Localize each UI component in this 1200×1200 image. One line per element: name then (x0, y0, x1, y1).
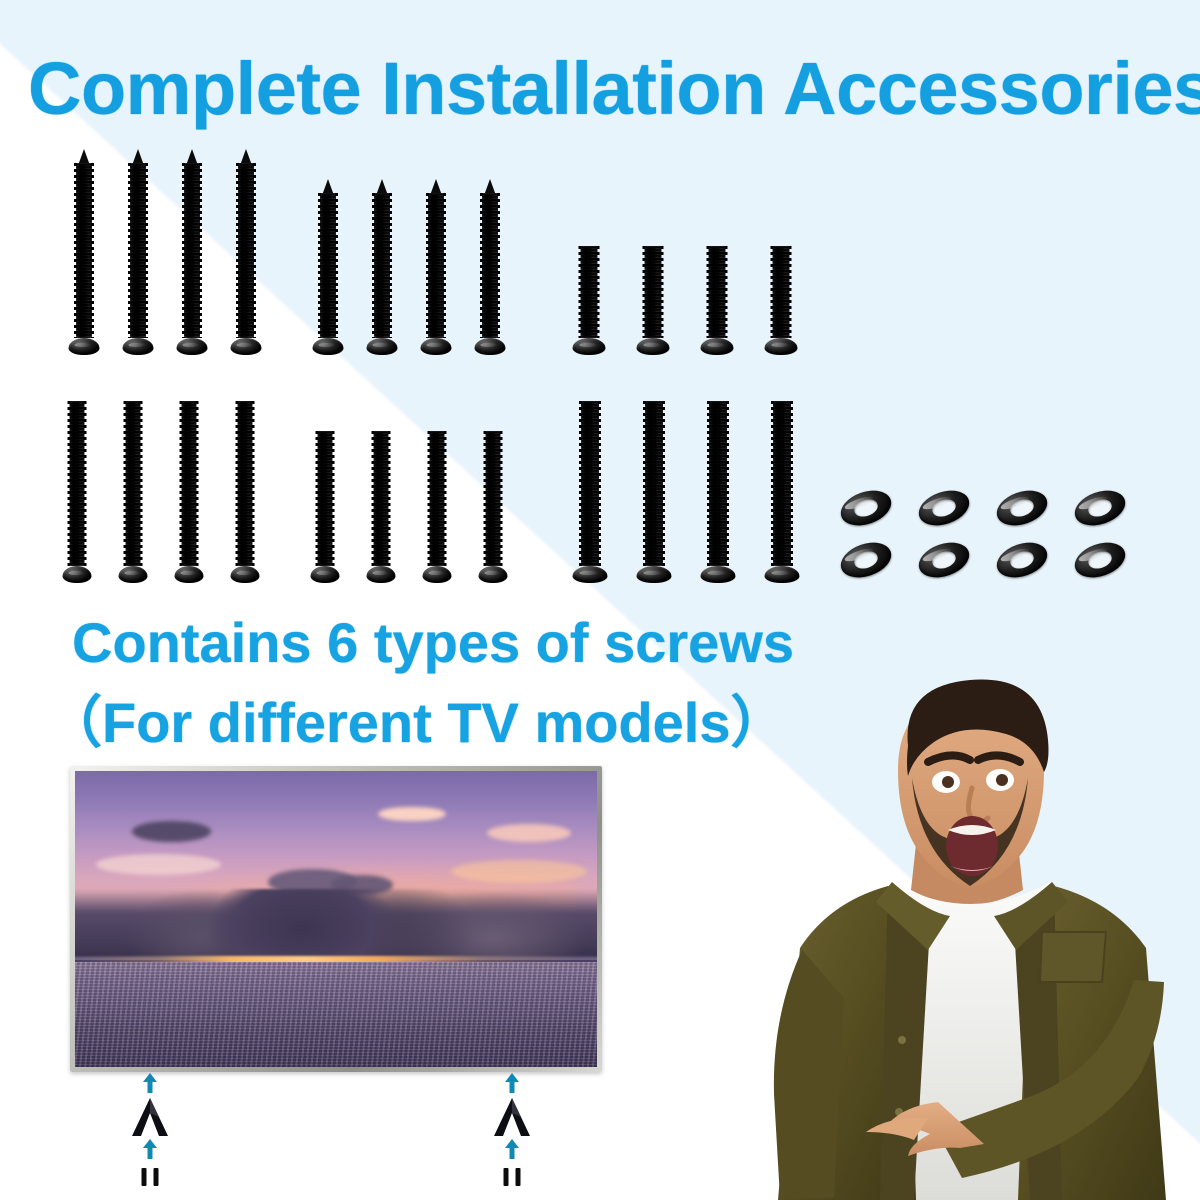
screw-medium-blunt-machine-screws (310, 431, 339, 583)
screw-head (700, 338, 733, 355)
screw-shaft (709, 401, 727, 566)
screw-head (366, 338, 397, 355)
screw-head (474, 338, 505, 355)
screw-short-blunt-machine-screws (764, 246, 797, 355)
screw-head (62, 566, 91, 583)
screw-head (122, 338, 153, 355)
pupil-right (996, 774, 1008, 786)
screw-shaft (485, 431, 500, 566)
screw-shaft (69, 401, 84, 566)
cloud-bank (75, 889, 597, 957)
screw-short-blunt-machine-screws (572, 246, 605, 355)
screw-head (764, 338, 797, 355)
screw-shaft (429, 431, 444, 566)
screw-shaft (238, 163, 254, 338)
screw-head (174, 566, 203, 583)
screw-shaft (644, 246, 661, 338)
screw-long-thick-blunt-machine-screws (764, 401, 799, 583)
screw-head (636, 566, 671, 583)
arm-left-sleeve (774, 950, 844, 1198)
screw-medium-blunt-machine-screws (366, 431, 395, 583)
screw-shaft (482, 193, 498, 338)
screw-long-blunt-machine-screws (118, 401, 147, 583)
screw-shaft (76, 163, 92, 338)
screw-long-pointed-wood-screws (230, 163, 261, 355)
screw-head (176, 338, 207, 355)
cloud-wisp-upper-right (487, 824, 571, 842)
screw-shaft (581, 401, 599, 566)
screw-shaft (125, 401, 140, 566)
screw-medium-blunt-machine-screws (422, 431, 451, 583)
screw-shaft (317, 431, 332, 566)
up-arrow-icon-top (141, 1072, 159, 1094)
screw-head (312, 338, 343, 355)
subtitle-line-1: Contains 6 types of screws (72, 615, 794, 671)
screw-long-thick-blunt-machine-screws (700, 401, 735, 583)
screw-shaft (773, 401, 791, 566)
screw-head (764, 566, 799, 583)
screw-long-thick-blunt-machine-screws (572, 401, 607, 583)
cloud-wisp-dark-left (132, 821, 210, 842)
screw-head (230, 566, 259, 583)
page-title: Complete Installation Accessories (28, 52, 1198, 126)
cloud-wisp-bright-right (378, 807, 446, 822)
screw-long-blunt-machine-screws (230, 401, 259, 583)
screw-head (572, 566, 607, 583)
cloud-wisp-left-streak (96, 854, 221, 875)
screw-shaft (580, 246, 597, 338)
mount-bar (142, 1168, 147, 1186)
screw-shaft (428, 193, 444, 338)
screw-shaft (237, 401, 252, 566)
v-bracket-icon (128, 1096, 172, 1138)
screw-medium-pointed-wood-screws (366, 193, 397, 355)
screw-head (310, 566, 339, 583)
screw-long-pointed-wood-screws (122, 163, 153, 355)
television-mockup (70, 766, 602, 1072)
screw-head (366, 566, 395, 583)
screw-shaft (181, 401, 196, 566)
screw-head (68, 338, 99, 355)
screw-short-blunt-machine-screws (636, 246, 669, 355)
ocean-surface (75, 962, 597, 1067)
pupil-left (942, 776, 954, 788)
subtitle-line-2: （For different TV models） (46, 695, 787, 751)
person-illustration (742, 650, 1200, 1200)
screw-short-blunt-machine-screws (700, 246, 733, 355)
screw-medium-pointed-wood-screws (474, 193, 505, 355)
screw-medium-pointed-wood-screws (420, 193, 451, 355)
screw-head (230, 338, 261, 355)
up-arrow-icon-bottom (503, 1138, 521, 1160)
screw-long-blunt-machine-screws (174, 401, 203, 583)
screw-long-thick-blunt-machine-screws (636, 401, 671, 583)
screw-head (700, 566, 735, 583)
screw-head (478, 566, 507, 583)
mount-point-left (120, 1072, 180, 1182)
v-bracket-icon (490, 1096, 534, 1138)
mount-bar (504, 1168, 509, 1186)
screw-shaft (645, 401, 663, 566)
screw-shaft (374, 193, 390, 338)
shirt-pocket (1040, 932, 1106, 982)
up-arrow-icon-bottom (141, 1138, 159, 1160)
infographic-canvas: Complete Installation Accessories Contai… (0, 0, 1200, 1200)
mount-bars (142, 1168, 159, 1186)
screw-medium-blunt-machine-screws (478, 431, 507, 583)
screw-shaft (708, 246, 725, 338)
screw-shaft (373, 431, 388, 566)
mount-bars (504, 1168, 521, 1186)
screw-shaft (130, 163, 146, 338)
person-photo (742, 650, 1200, 1200)
up-arrow-icon-top (503, 1072, 521, 1094)
shirt-button-1 (898, 1036, 906, 1044)
screw-long-pointed-wood-screws (68, 163, 99, 355)
screw-head (422, 566, 451, 583)
screw-head (118, 566, 147, 583)
screw-shaft (772, 246, 789, 338)
tv-screen (75, 771, 597, 1067)
screw-medium-pointed-wood-screws (312, 193, 343, 355)
screw-head (636, 338, 669, 355)
mount-bar (154, 1168, 159, 1186)
screw-head (420, 338, 451, 355)
screw-shaft (320, 193, 336, 338)
mount-point-right (482, 1072, 542, 1182)
mount-bar (516, 1168, 521, 1186)
screw-head (572, 338, 605, 355)
screw-long-blunt-machine-screws (62, 401, 91, 583)
screw-long-pointed-wood-screws (176, 163, 207, 355)
screw-shaft (184, 163, 200, 338)
